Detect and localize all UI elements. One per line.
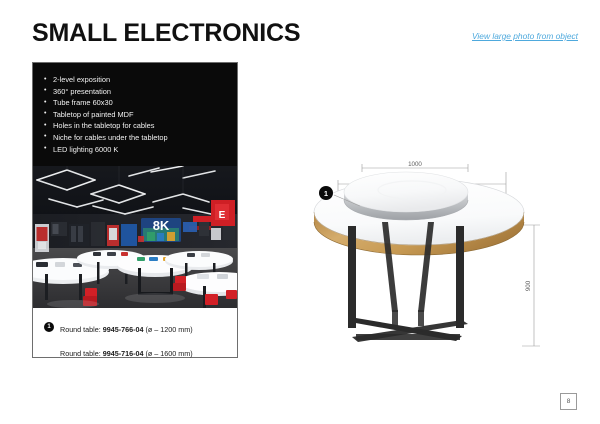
dimension-label-900: 900 [525,280,532,291]
spec-item: LED lighting 6000 K [44,144,237,156]
spec-item: Tube frame 60x30 [44,97,237,109]
caption-prefix: Round table: [60,325,103,334]
spec-list: 2-level exposition 360° presentation Tub… [33,63,237,155]
page-title: SMALL ELECTRONICS [32,21,300,46]
caption-prefix: Round table: [60,349,103,358]
dimension-label-1000: 1000 [408,161,422,168]
upper-platform [344,172,468,220]
caption-suffix: (ø – 1600 mm) [144,349,193,358]
spec-item: Niche for cables under the tabletop [44,132,237,144]
caption-suffix: (ø – 1200 mm) [144,325,193,334]
callout-badge-1: 1 [319,186,333,200]
caption-text-1: Round table: 9945-766-04 (ø – 1200 mm) [60,326,193,333]
spec-item: Holes in the tabletop for cables [44,120,237,132]
svg-text:8K: 8K [153,218,170,233]
caption-code: 9945-716-04 [103,349,144,358]
spec-item: 2-level exposition [44,74,237,86]
caption-badge-1: 1 [44,322,54,332]
store-interior-photo: 8K E [33,166,237,308]
spec-item: 360° presentation [44,86,237,98]
view-large-photo-link[interactable]: View large photo from object [472,31,578,41]
spec-item: Tabletop of painted MDF [44,109,237,121]
caption-text-2: Round table: 9945-716-04 (ø – 1600 mm) [60,350,193,357]
product-technical-drawing: 1000 1600 / 1200 900 [300,150,590,350]
spec-panel: 2-level exposition 360° presentation Tub… [33,63,237,166]
caption-code: 9945-766-04 [103,325,144,334]
svg-text:E: E [219,210,226,221]
svg-text:1: 1 [324,189,328,198]
info-card: 2-level exposition 360° presentation Tub… [32,62,238,358]
page-number: 8 [560,393,577,410]
